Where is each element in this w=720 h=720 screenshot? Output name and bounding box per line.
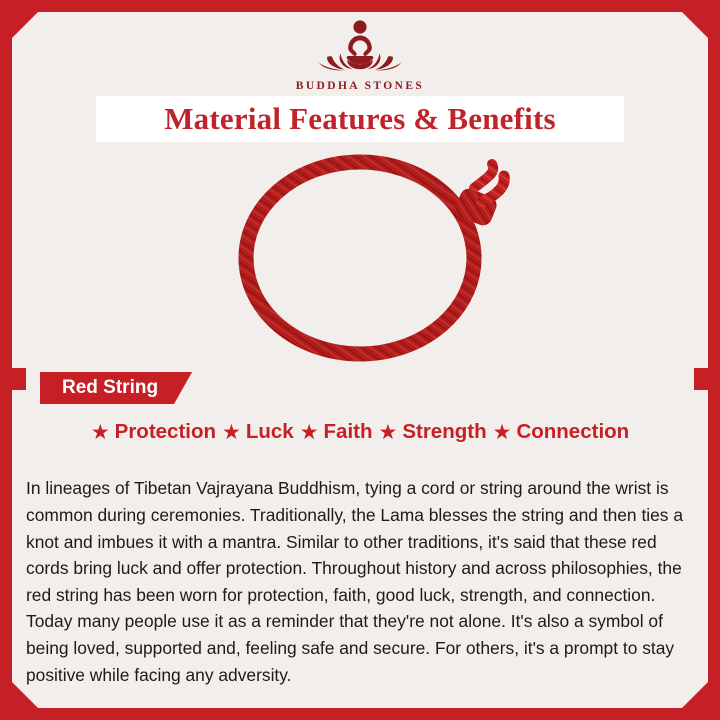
brand-name: BUDDHA STONES <box>0 80 720 92</box>
page-title: Material Features & Benefits <box>164 101 556 137</box>
benefit-item-strength: ★ Strength <box>379 420 487 444</box>
benefit-label: Luck <box>246 420 294 444</box>
star-icon: ★ <box>300 422 319 443</box>
benefit-item-faith: ★ Faith <box>300 420 373 444</box>
benefit-label: Strength <box>402 420 486 444</box>
bracelet-illustration <box>12 146 708 368</box>
benefit-label: Faith <box>324 420 373 444</box>
benefits-row: ★ Protection ★ Luck ★ Faith ★ Strength ★… <box>26 420 694 444</box>
star-icon: ★ <box>91 422 110 443</box>
red-string-bracelet-icon <box>12 146 708 368</box>
star-icon: ★ <box>222 422 241 443</box>
description-paragraph: In lineages of Tibetan Vajrayana Buddhis… <box>26 475 698 688</box>
product-image-area <box>12 146 708 368</box>
product-name-label: Red String <box>62 377 158 399</box>
frame-bar-top <box>0 0 720 12</box>
frame-bar-left <box>0 0 12 720</box>
benefit-label: Connection <box>516 420 629 444</box>
title-band: Material Features & Benefits <box>96 96 624 142</box>
benefit-item-connection: ★ Connection <box>493 420 630 444</box>
benefit-item-protection: ★ Protection <box>91 420 216 444</box>
infographic-page: BUDDHA STONES Material Features & Benefi… <box>0 0 720 720</box>
frame-bar-right <box>708 0 720 720</box>
product-name-ribbon: Red String <box>40 372 192 404</box>
star-icon: ★ <box>379 422 398 443</box>
benefit-label: Protection <box>115 420 216 444</box>
lotus-meditation-icon <box>306 14 414 78</box>
star-icon: ★ <box>493 422 512 443</box>
benefit-item-luck: ★ Luck <box>222 420 294 444</box>
brand-block: BUDDHA STONES <box>0 14 720 92</box>
frame-bar-bottom <box>0 708 720 720</box>
